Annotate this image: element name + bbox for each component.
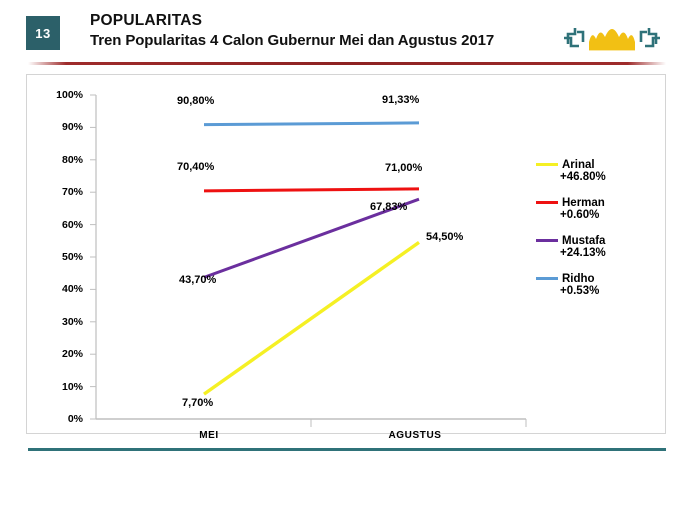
data-label-herman-agustus: 71,00%	[385, 162, 422, 174]
slide-number-badge: 13	[26, 16, 60, 50]
data-label-arinal-agustus: 54,50%	[426, 231, 463, 243]
legend-item-mustafa[interactable]: Mustafa +24.13%	[536, 234, 676, 259]
ytick-label: 70%	[31, 186, 83, 198]
legend-delta-herman: +0.60%	[560, 209, 676, 221]
x-tick-marks	[311, 419, 526, 427]
legend-delta-ridho: +0.53%	[560, 285, 676, 297]
legend-delta-mustafa: +24.13%	[560, 247, 676, 259]
ytick-label: 40%	[31, 283, 83, 295]
chart-legend: Arinal +46.80% Herman +0.60% Mustafa +24…	[536, 158, 676, 310]
xtick-label-agustus: AGUSTUS	[370, 430, 460, 441]
y-tick-marks	[90, 95, 96, 419]
legend-swatch-arinal	[536, 163, 558, 166]
data-label-herman-mei: 70,40%	[177, 161, 214, 173]
ytick-label: 20%	[31, 348, 83, 360]
slide-header: 13 POPULARITAS Tren Popularitas 4 Calon …	[0, 0, 693, 70]
legend-label-ridho: Ridho	[562, 273, 595, 285]
data-label-mustafa-agustus: 67,83%	[370, 201, 407, 213]
legend-label-mustafa: Mustafa	[562, 235, 605, 247]
ytick-label: 100%	[31, 89, 83, 101]
series-line-herman	[204, 189, 419, 191]
ytick-label: 60%	[31, 219, 83, 231]
ytick-label: 30%	[31, 316, 83, 328]
data-label-mustafa-mei: 43,70%	[179, 274, 216, 286]
legend-swatch-herman	[536, 201, 558, 204]
slide-footer: R Rakata Institute rakatainstitute Rakat…	[0, 458, 693, 520]
xtick-label-mei: MEI	[164, 430, 254, 441]
slide-root: 13 POPULARITAS Tren Popularitas 4 Calon …	[0, 0, 693, 520]
series-line-ridho	[204, 123, 419, 125]
footer-divider	[28, 448, 666, 451]
legend-swatch-ridho	[536, 277, 558, 280]
legend-label-arinal: Arinal	[562, 159, 595, 171]
ytick-label: 50%	[31, 251, 83, 263]
data-label-ridho-mei: 90,80%	[177, 95, 214, 107]
data-label-arinal-mei: 7,70%	[182, 397, 213, 409]
legend-item-arinal[interactable]: Arinal +46.80%	[536, 158, 676, 183]
legend-delta-arinal: +46.80%	[560, 171, 676, 183]
ytick-label: 80%	[31, 154, 83, 166]
page-subtitle: Tren Popularitas 4 Calon Gubernur Mei da…	[90, 32, 494, 49]
ytick-label: 90%	[31, 121, 83, 133]
legend-label-herman: Herman	[562, 197, 605, 209]
ytick-label: 10%	[31, 381, 83, 393]
header-divider	[28, 62, 666, 65]
crown-emblem-icon	[562, 18, 662, 56]
ytick-label: 0%	[31, 413, 83, 425]
legend-swatch-mustafa	[536, 239, 558, 242]
page-title: POPULARITAS	[90, 12, 202, 30]
data-label-ridho-agustus: 91,33%	[382, 94, 419, 106]
legend-item-herman[interactable]: Herman +0.60%	[536, 196, 676, 221]
legend-item-ridho[interactable]: Ridho +0.53%	[536, 272, 676, 297]
